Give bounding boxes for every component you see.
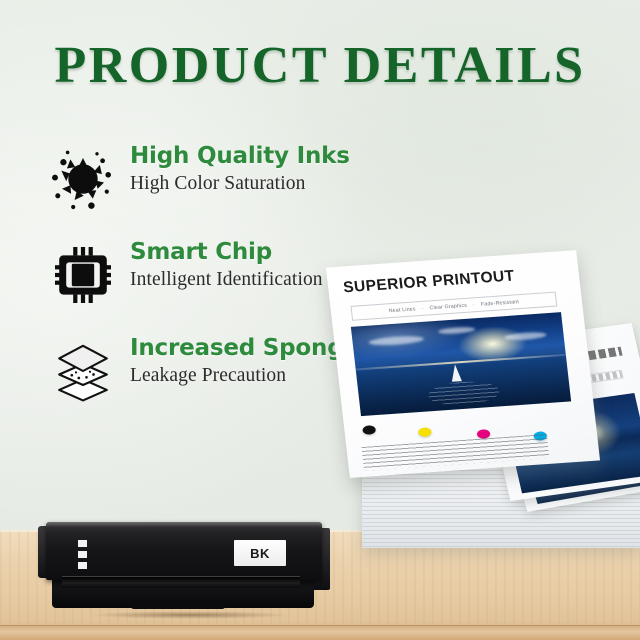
- feature-item-increased-sponge: Increased Sponge Leakage Precaution: [44, 332, 374, 428]
- toner-cartridge: BK: [38, 516, 330, 616]
- printed-sheet-headline: SUPERIOR PRINTOUT: [342, 264, 564, 297]
- feature-text-block: High Quality Inks High Color Saturation: [130, 144, 350, 197]
- page-title: PRODUCT DETAILS: [0, 36, 640, 95]
- tagline-item: Fade-Resistant: [481, 299, 520, 308]
- cloud-shape: [369, 335, 425, 347]
- feature-title: High Quality Inks: [130, 144, 350, 169]
- cartridge-shadow: [56, 610, 324, 620]
- cloud-shape: [437, 326, 476, 335]
- feature-title: Increased Sponge: [130, 336, 359, 361]
- cartridge-body: BK: [46, 522, 322, 580]
- color-dot-black: [362, 425, 376, 435]
- ink-splat-icon: [48, 144, 118, 214]
- color-dot-yellow: [418, 427, 432, 437]
- table-front-edge: [0, 625, 640, 640]
- feature-list: High Quality Inks High Color Saturation: [44, 140, 374, 428]
- cartridge-indicator-marks: [78, 540, 87, 572]
- feature-title: Smart Chip: [130, 240, 323, 265]
- feature-item-smart-chip: Smart Chip Intelligent Identification: [44, 236, 374, 332]
- feature-subtitle: Leakage Precaution: [130, 364, 359, 388]
- feature-text-block: Increased Sponge Leakage Precaution: [130, 336, 359, 389]
- sponge-layers-icon: [48, 336, 118, 406]
- cloud-shape: [504, 331, 547, 341]
- tagline-item: Clear Graphics: [429, 303, 467, 312]
- feature-item-high-quality-inks: High Quality Inks High Color Saturation: [44, 140, 374, 236]
- feature-subtitle: Intelligent Identification: [130, 268, 323, 292]
- water-wake: [427, 379, 501, 407]
- smart-chip-icon: [48, 240, 118, 310]
- feature-subtitle: High Color Saturation: [130, 172, 350, 196]
- tagline-separator: ·: [421, 306, 424, 312]
- cartridge-bottom-notch: [130, 600, 226, 609]
- sailboat-photo: [350, 313, 570, 416]
- tagline-separator: ·: [473, 302, 476, 308]
- sailboat-shape: [450, 364, 462, 382]
- tagline-item: Neat Lines: [388, 306, 416, 314]
- feature-text-block: Smart Chip Intelligent Identification: [130, 240, 323, 293]
- printed-sheet-sample: SUPERIOR PRINTOUT Neat Lines · Clear Gra…: [326, 250, 600, 478]
- product-details-infographic: PRODUCT DETAILS: [0, 0, 640, 640]
- cartridge-drum-slot: [62, 576, 300, 588]
- cartridge-color-label: BK: [234, 540, 286, 566]
